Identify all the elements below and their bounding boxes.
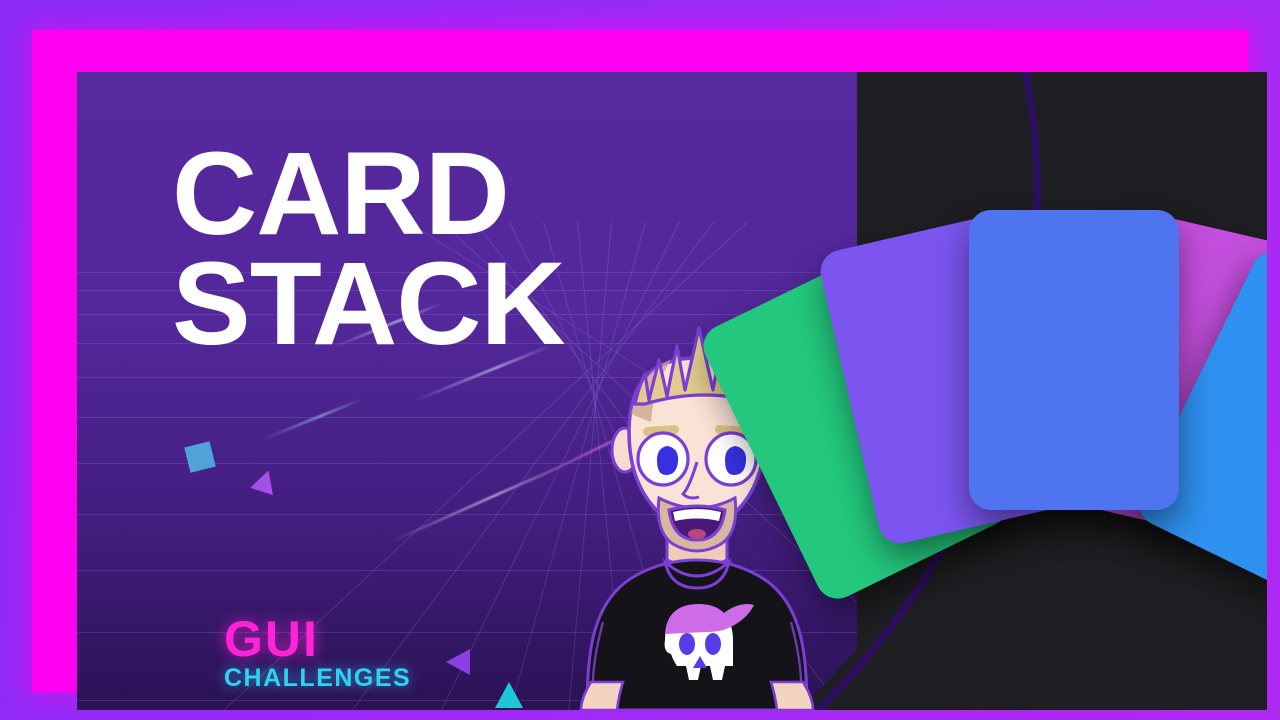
card-blue[interactable]: [969, 210, 1179, 510]
frame-inner-content: CARD STACK GUI CHALLENGES: [77, 72, 1267, 710]
thumbnail-canvas: CARD STACK GUI CHALLENGES: [0, 0, 1280, 720]
neon-frame-border: CARD STACK GUI CHALLENGES: [32, 30, 1248, 692]
